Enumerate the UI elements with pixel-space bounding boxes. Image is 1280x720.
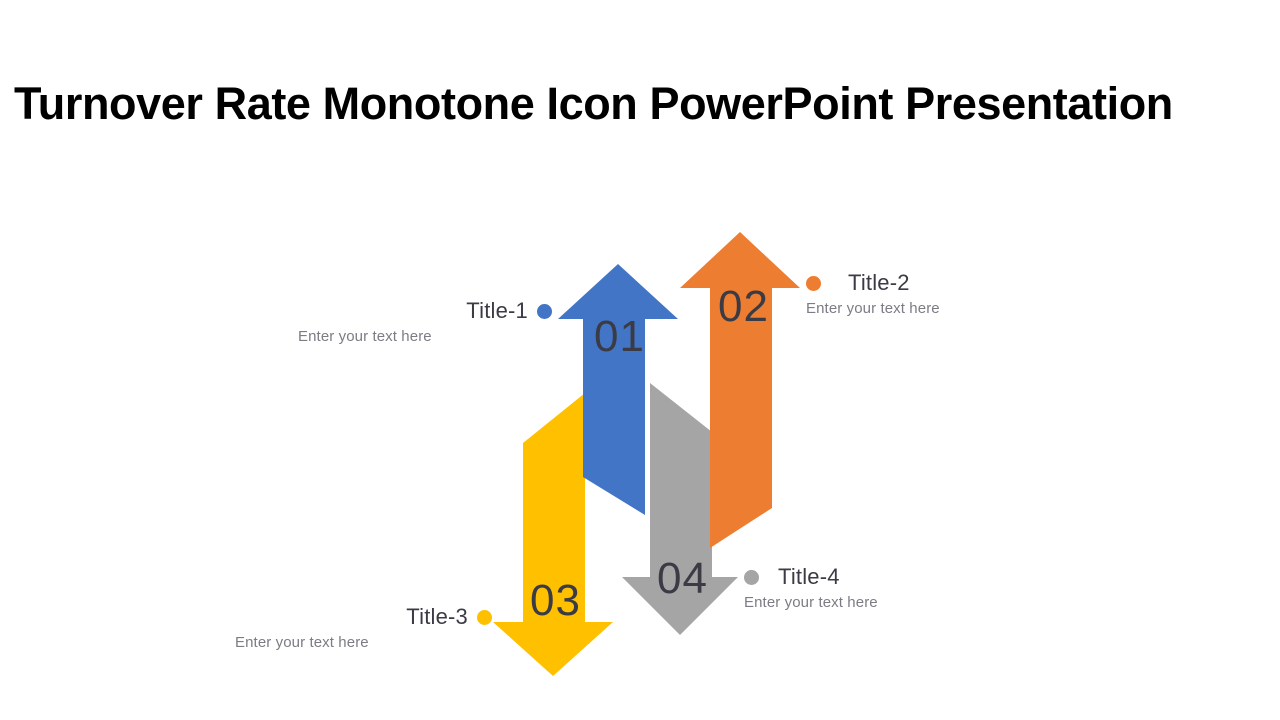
callout-title-1: Title-1 Enter your text here <box>298 298 552 345</box>
bullet-dot-icon-2 <box>806 276 821 291</box>
arrow-number-03: 03 <box>530 576 581 626</box>
arrow-number-02: 02 <box>718 282 769 332</box>
callout-4-text: Enter your text here <box>744 594 1044 611</box>
callout-3-head: Title-3 <box>235 604 492 630</box>
arrow-number-01: 01 <box>594 312 645 362</box>
callout-2-title: Title-2 <box>848 270 910 296</box>
callout-4-head: Title-4 <box>744 564 1044 590</box>
callout-1-head: Title-1 <box>298 298 552 324</box>
callout-3-title: Title-3 <box>406 604 468 630</box>
bullet-dot-icon-3 <box>477 610 492 625</box>
callout-1-text: Enter your text here <box>298 328 552 345</box>
bullet-dot-icon-1 <box>537 304 552 319</box>
callout-1-title: Title-1 <box>466 298 528 324</box>
presentation-slide: Turnover Rate Monotone Icon PowerPoint P… <box>0 0 1280 720</box>
callout-4-title: Title-4 <box>778 564 840 590</box>
callout-2-head: Title-2 <box>806 270 1106 296</box>
arrow-number-04: 04 <box>657 554 708 604</box>
callout-title-2: Title-2 Enter your text here <box>806 270 1106 317</box>
four-arrow-diagram: 01 02 03 04 Title-1 Enter your text here… <box>0 0 1280 720</box>
bullet-dot-icon-4 <box>744 570 759 585</box>
callout-title-4: Title-4 Enter your text here <box>744 564 1044 611</box>
callout-title-3: Title-3 Enter your text here <box>235 604 492 651</box>
callout-3-text: Enter your text here <box>235 634 492 651</box>
callout-2-text: Enter your text here <box>806 300 1106 317</box>
